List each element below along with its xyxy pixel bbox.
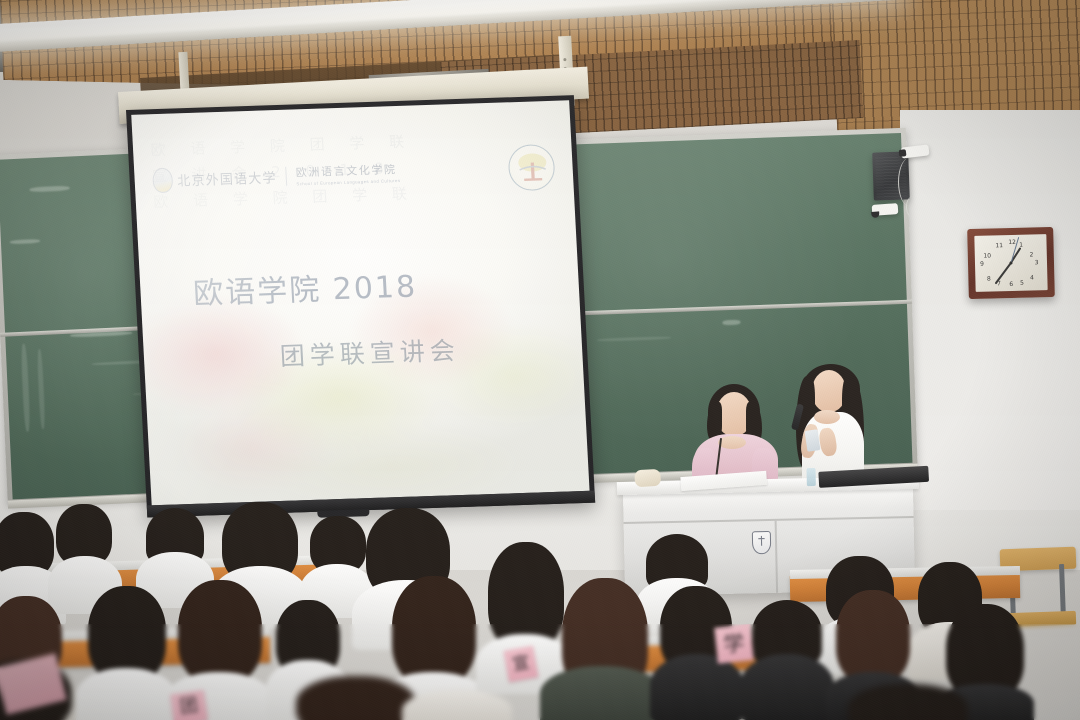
security-camera-lower (872, 203, 899, 216)
presenter-right-head (812, 370, 846, 412)
status-badge: 学 (714, 624, 754, 664)
clock-number-6: 6 (1009, 281, 1013, 288)
university-name-cn: 北京外国语大学 (177, 167, 277, 190)
slide-title-line-2: 团学联宣讲会 (279, 331, 461, 373)
podium-microphone-base (634, 469, 661, 487)
status-badge: 团 (170, 690, 208, 720)
projection-screen[interactable]: 欧 语 学 院 团 学 联 宣 讲 会 2 0 1 8 欧 语 学 院 团 学 … (126, 95, 595, 517)
clock-number-5: 5 (1020, 279, 1024, 286)
clock-face: 12 1 2 3 4 5 6 7 8 9 10 11 (974, 234, 1047, 292)
podium-water-bottle (807, 468, 816, 486)
right-wall-panel (900, 110, 1080, 510)
podium-seam (624, 516, 914, 524)
clock-number-9: 9 (980, 261, 984, 268)
university-shield-emblem (751, 531, 770, 554)
presenter-right-neckline (814, 410, 840, 424)
presenter-left-neckline (718, 436, 746, 449)
presentation-slide: 欧 语 学 院 团 学 联 宣 讲 会 2 0 1 8 欧 语 学 院 团 学 … (131, 100, 589, 505)
university-logo: 北京外国语大学 (152, 164, 278, 193)
slide-header: 北京外国语大学 欧洲语言文化学院 School of European Lang… (150, 128, 557, 219)
status-badge: 宣 (503, 646, 538, 683)
clock-number-8: 8 (987, 276, 991, 283)
clock-number-10: 10 (983, 252, 991, 259)
clock-number-3: 3 (1035, 260, 1039, 267)
logo-divider (285, 167, 287, 186)
lecture-hall-photo: 12 1 2 3 4 5 6 7 8 9 10 11 欧 语 学 院 团 学 (0, 0, 1080, 720)
wall-clock: 12 1 2 3 4 5 6 7 8 9 10 11 (967, 227, 1055, 299)
university-seal-logo (152, 167, 173, 193)
podium-panel-split (774, 521, 778, 593)
smartphone (805, 429, 821, 452)
projection-screen-surface: 欧 语 学 院 团 学 联 宣 讲 会 2 0 1 8 欧 语 学 院 团 学 … (131, 100, 589, 505)
tree-crest-logo (508, 144, 556, 191)
clock-number-11: 11 (995, 242, 1003, 249)
clock-number-4: 4 (1030, 275, 1034, 282)
clock-number-2: 2 (1029, 251, 1033, 258)
school-logo-text: 欧洲语言文化学院 School of European Languages an… (295, 161, 400, 186)
clock-center-pin (1009, 261, 1012, 264)
bracket-screws (563, 58, 566, 61)
camera-cable-2 (906, 196, 920, 218)
slide-title-line-1: 欧语学院 2018 (192, 262, 418, 313)
